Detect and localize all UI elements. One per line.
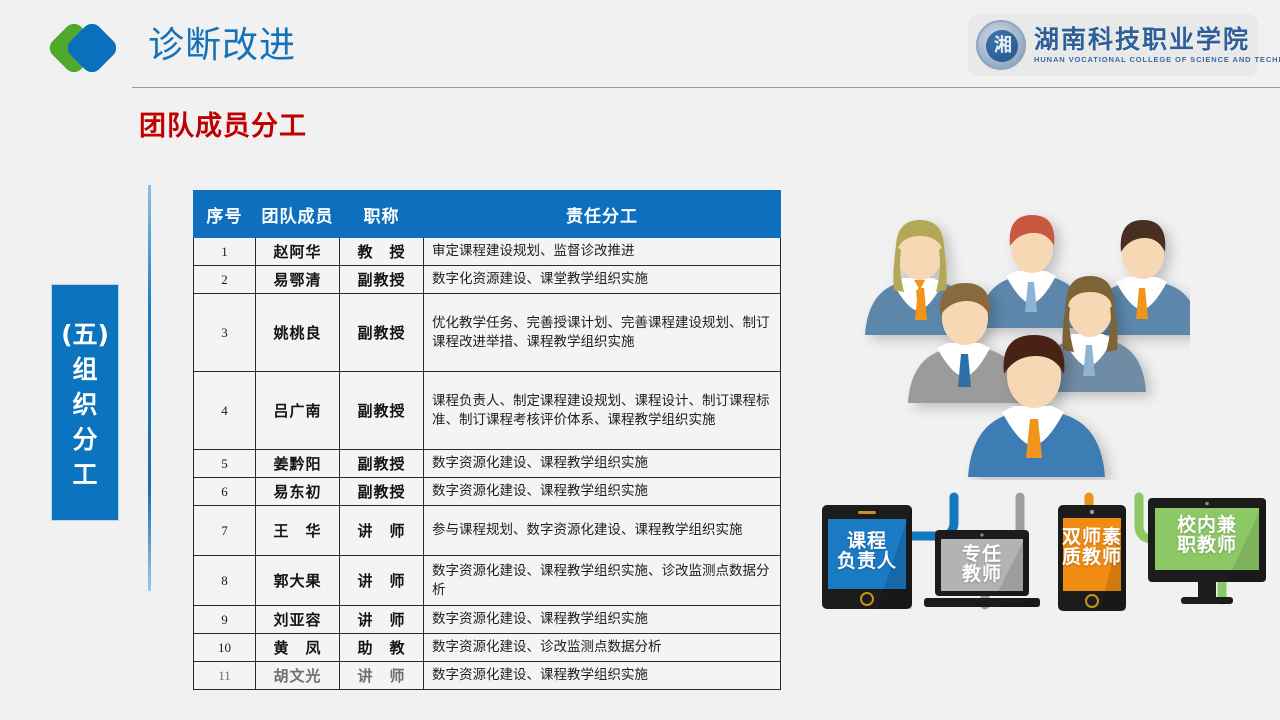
table-cell-title: 副教授	[340, 372, 424, 450]
device-laptop-label: 专任教师	[924, 544, 1040, 584]
table-cell-duty: 数字资源化建设、课程教学组织实施	[424, 662, 781, 690]
table-cell-idx: 4	[194, 372, 256, 450]
sidebar-tab-char-4: 工	[72, 457, 97, 492]
table-cell-title: 副教授	[340, 450, 424, 478]
table-cell-name: 黄 凤	[256, 634, 340, 662]
team-structure-diagram: 课程负责人 专任教师 双师素质教师	[800, 200, 1280, 640]
column-header-member: 团队成员	[256, 191, 340, 238]
table-cell-idx: 6	[194, 478, 256, 506]
sidebar-tab-char-3: 分	[72, 422, 97, 457]
table-cell-duty: 数字资源化建设、课程教学组织实施	[424, 478, 781, 506]
table-row: 3姚桃良副教授优化教学任务、完善授课计划、完善课程建设规划、制订课程改进举措、课…	[194, 294, 781, 372]
table-row: 8郭大果讲 师数字资源化建设、课程教学组织实施、诊改监测点数据分析	[194, 556, 781, 606]
table-body: 1赵阿华教 授审定课程建设规划、监督诊改推进2易鄂清副教授数字化资源建设、课堂教…	[194, 238, 781, 690]
table-row: 4吕广南副教授课程负责人、制定课程建设规划、课程设计、制订课程标准、制订课程考核…	[194, 372, 781, 450]
device-monitor-label: 校内兼职教师	[1148, 515, 1266, 555]
sidebar-vertical-rule	[148, 185, 151, 591]
column-header-rank: 职称	[340, 191, 424, 238]
sidebar-tab-char-2: 织	[72, 387, 97, 422]
school-logo: 湘 湖南科技职业学院 HUNAN VOCATIONAL COLLEGE OF S…	[968, 14, 1258, 76]
table-cell-title: 讲 师	[340, 506, 424, 556]
table-row: 10黄 凤助 教数字资源化建设、诊改监测点数据分析	[194, 634, 781, 662]
table-cell-title: 副教授	[340, 266, 424, 294]
table-cell-title: 副教授	[340, 478, 424, 506]
table-cell-duty: 数字资源化建设、课程教学组织实施	[424, 450, 781, 478]
table-cell-idx: 9	[194, 606, 256, 634]
header-divider	[132, 87, 1280, 88]
table-cell-duty: 数字资源化建设、课程教学组织实施、诊改监测点数据分析	[424, 556, 781, 606]
table-cell-idx: 11	[194, 662, 256, 690]
section-subtitle: 团队成员分工	[139, 104, 307, 143]
table-cell-duty: 数字资源化建设、课程教学组织实施	[424, 606, 781, 634]
table-cell-duty: 课程负责人、制定课程建设规划、课程设计、制订课程标准、制订课程考核评价体系、课程…	[424, 372, 781, 450]
table-cell-idx: 10	[194, 634, 256, 662]
table-cell-idx: 3	[194, 294, 256, 372]
device-phone: 双师素质教师	[1058, 505, 1126, 616]
table-cell-duty: 数字资源化建设、诊改监测点数据分析	[424, 634, 781, 662]
table-cell-title: 教 授	[340, 238, 424, 266]
slide-canvas: 诊断改进 团队成员分工 湘 湖南科技职业学院 HUNAN VOCATIONAL …	[0, 0, 1280, 720]
table-cell-title: 副教授	[340, 294, 424, 372]
table-cell-title: 讲 师	[340, 662, 424, 690]
device-tablet-label: 课程负责人	[822, 531, 912, 571]
device-tablet: 课程负责人	[822, 505, 912, 614]
table-row: 9刘亚容讲 师数字资源化建设、课程教学组织实施	[194, 606, 781, 634]
school-name-english: HUNAN VOCATIONAL COLLEGE OF SCIENCE AND …	[1034, 54, 1280, 65]
table-cell-title: 助 教	[340, 634, 424, 662]
school-seal-icon: 湘	[976, 20, 1026, 70]
table-cell-title: 讲 师	[340, 556, 424, 606]
table-cell-name: 吕广南	[256, 372, 340, 450]
table-header-row: 序号 团队成员 职称 责任分工	[194, 191, 781, 238]
table-cell-name: 赵阿华	[256, 238, 340, 266]
table-cell-title: 讲 师	[340, 606, 424, 634]
table-cell-idx: 1	[194, 238, 256, 266]
table-cell-name: 姚桃良	[256, 294, 340, 372]
sidebar-tab-char-1: 组	[72, 352, 97, 387]
table-row: 11胡文光讲 师数字资源化建设、课程教学组织实施	[194, 662, 781, 690]
device-monitor: 校内兼职教师	[1148, 498, 1266, 609]
table-row: 6易东初副教授数字资源化建设、课程教学组织实施	[194, 478, 781, 506]
sidebar-section-tab: (五) 组 织 分 工	[51, 284, 119, 521]
column-header-index: 序号	[194, 191, 256, 238]
table-cell-duty: 审定课程建设规划、监督诊改推进	[424, 238, 781, 266]
table-cell-name: 王 华	[256, 506, 340, 556]
table-cell-idx: 5	[194, 450, 256, 478]
table-row: 5姜黔阳副教授数字资源化建设、课程教学组织实施	[194, 450, 781, 478]
table-row: 2易鄂清副教授数字化资源建设、课堂教学组织实施	[194, 266, 781, 294]
table-cell-name: 刘亚容	[256, 606, 340, 634]
table-cell-duty: 数字化资源建设、课堂教学组织实施	[424, 266, 781, 294]
table-cell-name: 胡文光	[256, 662, 340, 690]
team-assignment-table: 序号 团队成员 职称 责任分工 1赵阿华教 授审定课程建设规划、监督诊改推进2易…	[193, 190, 781, 690]
table-row: 7王 华讲 师参与课程规划、数字资源化建设、课程教学组织实施	[194, 506, 781, 556]
device-phone-label: 双师素质教师	[1058, 527, 1126, 567]
page-title: 诊断改进	[148, 23, 296, 69]
table-cell-duty: 参与课程规划、数字资源化建设、课程教学组织实施	[424, 506, 781, 556]
table-cell-idx: 7	[194, 506, 256, 556]
table-cell-name: 姜黔阳	[256, 450, 340, 478]
diamond-pair-logo-icon	[48, 22, 126, 74]
column-header-duty: 责任分工	[424, 191, 781, 238]
table-cell-idx: 2	[194, 266, 256, 294]
school-name-chinese: 湖南科技职业学院	[1034, 26, 1280, 54]
device-laptop: 专任教师	[924, 530, 1040, 617]
table-cell-name: 郭大果	[256, 556, 340, 606]
table-cell-name: 易东初	[256, 478, 340, 506]
table-cell-idx: 8	[194, 556, 256, 606]
school-seal-glyph: 湘	[978, 31, 1028, 57]
table-cell-name: 易鄂清	[256, 266, 340, 294]
table-cell-duty: 优化教学任务、完善授课计划、完善课程建设规划、制订课程改进举措、课程教学组织实施	[424, 294, 781, 372]
table-row: 1赵阿华教 授审定课程建设规划、监督诊改推进	[194, 238, 781, 266]
sidebar-tab-char-0: (五)	[61, 317, 109, 352]
